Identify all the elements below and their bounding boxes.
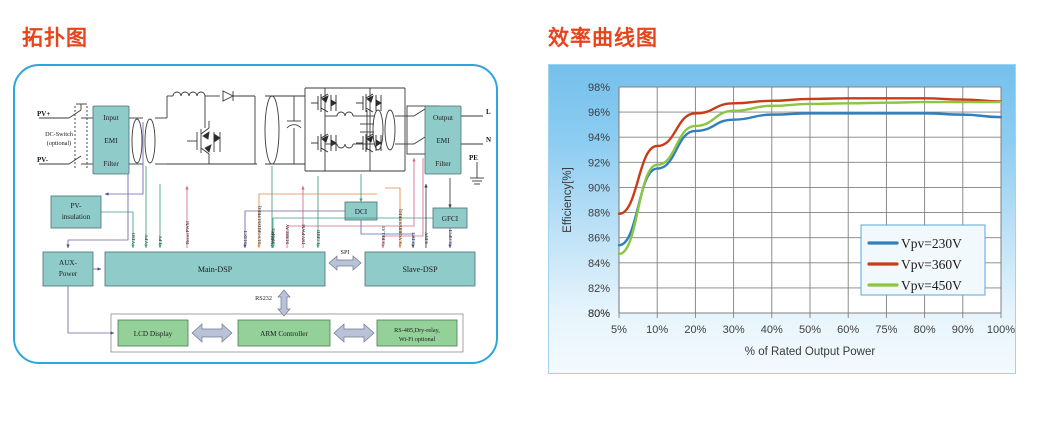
- dc-switch-line2: (optional): [47, 140, 71, 147]
- main-dsp-signal-labels: V.ISO V.PV I.PV Boost PWM V.BUS INV.PWM …: [131, 221, 321, 244]
- y-tick-label: 94%: [588, 132, 610, 144]
- spi-label: SPI: [341, 249, 350, 256]
- y-tick-label: 86%: [588, 233, 610, 245]
- y-tick-label: 98%: [588, 82, 610, 94]
- x-tick-label: 20%: [684, 324, 706, 336]
- sig-boost-pwm: Boost PWM: [185, 221, 190, 244]
- comms-line2: Wi-Fi optional: [399, 336, 436, 343]
- x-tick-label: 40%: [761, 324, 783, 336]
- output-emi-line3: Filter: [435, 160, 451, 168]
- sig-s-vgrid-freq: S.VGRID/S.FREQ: [398, 208, 403, 244]
- lcd-arm-arrow: [192, 324, 232, 342]
- topology-panel-title: 拓扑图: [22, 22, 88, 52]
- efficiency-chart-card: 80%82%84%86%88%90%92%94%96%98%80%5%10%20…: [548, 64, 1016, 374]
- x-tick-label: 60%: [837, 324, 859, 336]
- x-tick-label: 5%: [611, 324, 627, 336]
- pin-label-l: L: [486, 108, 491, 116]
- y-tick-label: 90%: [588, 182, 610, 194]
- y-tick-label: 96%: [588, 107, 610, 119]
- y-tick-label: 92%: [588, 157, 610, 169]
- x-axis-title: % of Rated Output Power: [745, 346, 876, 358]
- lcd-display-label: LCD Display: [134, 330, 173, 338]
- arm-comms-arrow: [334, 324, 374, 342]
- pin-label-pv-plus: PV+: [37, 110, 50, 118]
- main-dsp-label: Main-DSP: [198, 265, 233, 274]
- x-tick-label: 50%: [799, 324, 821, 336]
- block-pv-insulation: [51, 196, 101, 228]
- output-emi-line2: EMI: [436, 137, 450, 145]
- pv-insulation-line1: PV-: [71, 202, 83, 210]
- x-tick-label: 90%: [952, 324, 974, 336]
- legend-label-2: Vpv=450V: [901, 278, 962, 293]
- sig-s-gfci: S.GFCI: [448, 229, 453, 244]
- y-tick-label: 80%: [588, 308, 610, 320]
- chart-panel-title: 效率曲线图: [548, 22, 658, 52]
- arm-controller-label: ARM Controller: [260, 330, 308, 338]
- input-emi-line2: EMI: [104, 137, 118, 145]
- topology-diagram-card: Input EMI Filter Output EMI Filter L N P…: [13, 64, 498, 364]
- sig-s-inv: S.INV: [424, 231, 429, 244]
- output-emi-line1: Output: [433, 114, 453, 122]
- y-tick-label: 88%: [588, 208, 610, 220]
- dc-switch-line1: DC-Switch: [45, 131, 74, 138]
- sig-m-relay: M.RELAY: [285, 223, 290, 244]
- sig-s-relay: S.RELAY: [381, 225, 386, 244]
- sig-v-pv: V.PV: [144, 234, 149, 244]
- slave-dsp-label: Slave-DSP: [402, 265, 438, 274]
- sig-m-gfci: M.GFCI: [271, 228, 276, 244]
- x-tick-label: 30%: [723, 324, 745, 336]
- input-emi-line3: Filter: [103, 160, 119, 168]
- gfci-label: GFCI: [442, 215, 459, 223]
- pin-label-pv-minus: PV-: [37, 156, 49, 164]
- legend-label-0: Vpv=230V: [901, 236, 962, 251]
- efficiency-chart: 80%82%84%86%88%90%92%94%96%98%80%5%10%20…: [549, 65, 1017, 375]
- sig-v-iso: V.ISO: [131, 232, 136, 244]
- sig-i-pv: I.PV: [158, 235, 163, 244]
- pin-label-pe: PE: [469, 154, 478, 162]
- x-tick-label: 75%: [875, 324, 897, 336]
- block-aux-power: [43, 252, 93, 286]
- aux-power-line1: AUX-: [59, 259, 78, 267]
- y-tick-label: 82%: [588, 283, 610, 295]
- sig-inv-pwm: INV.PWM: [301, 224, 306, 244]
- y-tick-label: 84%: [588, 258, 610, 270]
- pv-insulation-line2: insulation: [62, 213, 91, 221]
- x-tick-label: 80%: [914, 324, 936, 336]
- sig-s-dci: S.DCI: [411, 232, 416, 244]
- y-axis-title: Efficiency[%]: [562, 167, 574, 233]
- sig-m-vgrid-freq: M.VGRID/M.FREQ: [257, 205, 262, 244]
- rs232-label: RS232: [255, 295, 272, 302]
- sig-m-dci: M.DCI: [243, 230, 248, 244]
- x-tick-label: 100%: [987, 324, 1015, 336]
- x-tick-label: 10%: [646, 324, 668, 336]
- rs232-arrow: [278, 290, 290, 316]
- dci-label: DCI: [355, 208, 368, 216]
- page-root: 拓扑图 效率曲线图: [0, 0, 1047, 424]
- input-emi-line1: Input: [103, 114, 118, 122]
- comms-line1: RS-485,Dry-relay,: [394, 327, 440, 334]
- topology-schematic: Input EMI Filter Output EMI Filter L N P…: [15, 66, 500, 366]
- chart-plot-area: 80%82%84%86%88%90%92%94%96%98%80%5%10%20…: [562, 82, 1015, 358]
- h-bridge-switches: [311, 94, 381, 152]
- sig-i-grid: I.GRID: [316, 229, 321, 244]
- aux-power-line2: Power: [59, 270, 78, 278]
- legend-label-1: Vpv=360V: [901, 257, 962, 272]
- spi-bus-arrow: [329, 256, 361, 270]
- pin-label-n: N: [486, 136, 491, 144]
